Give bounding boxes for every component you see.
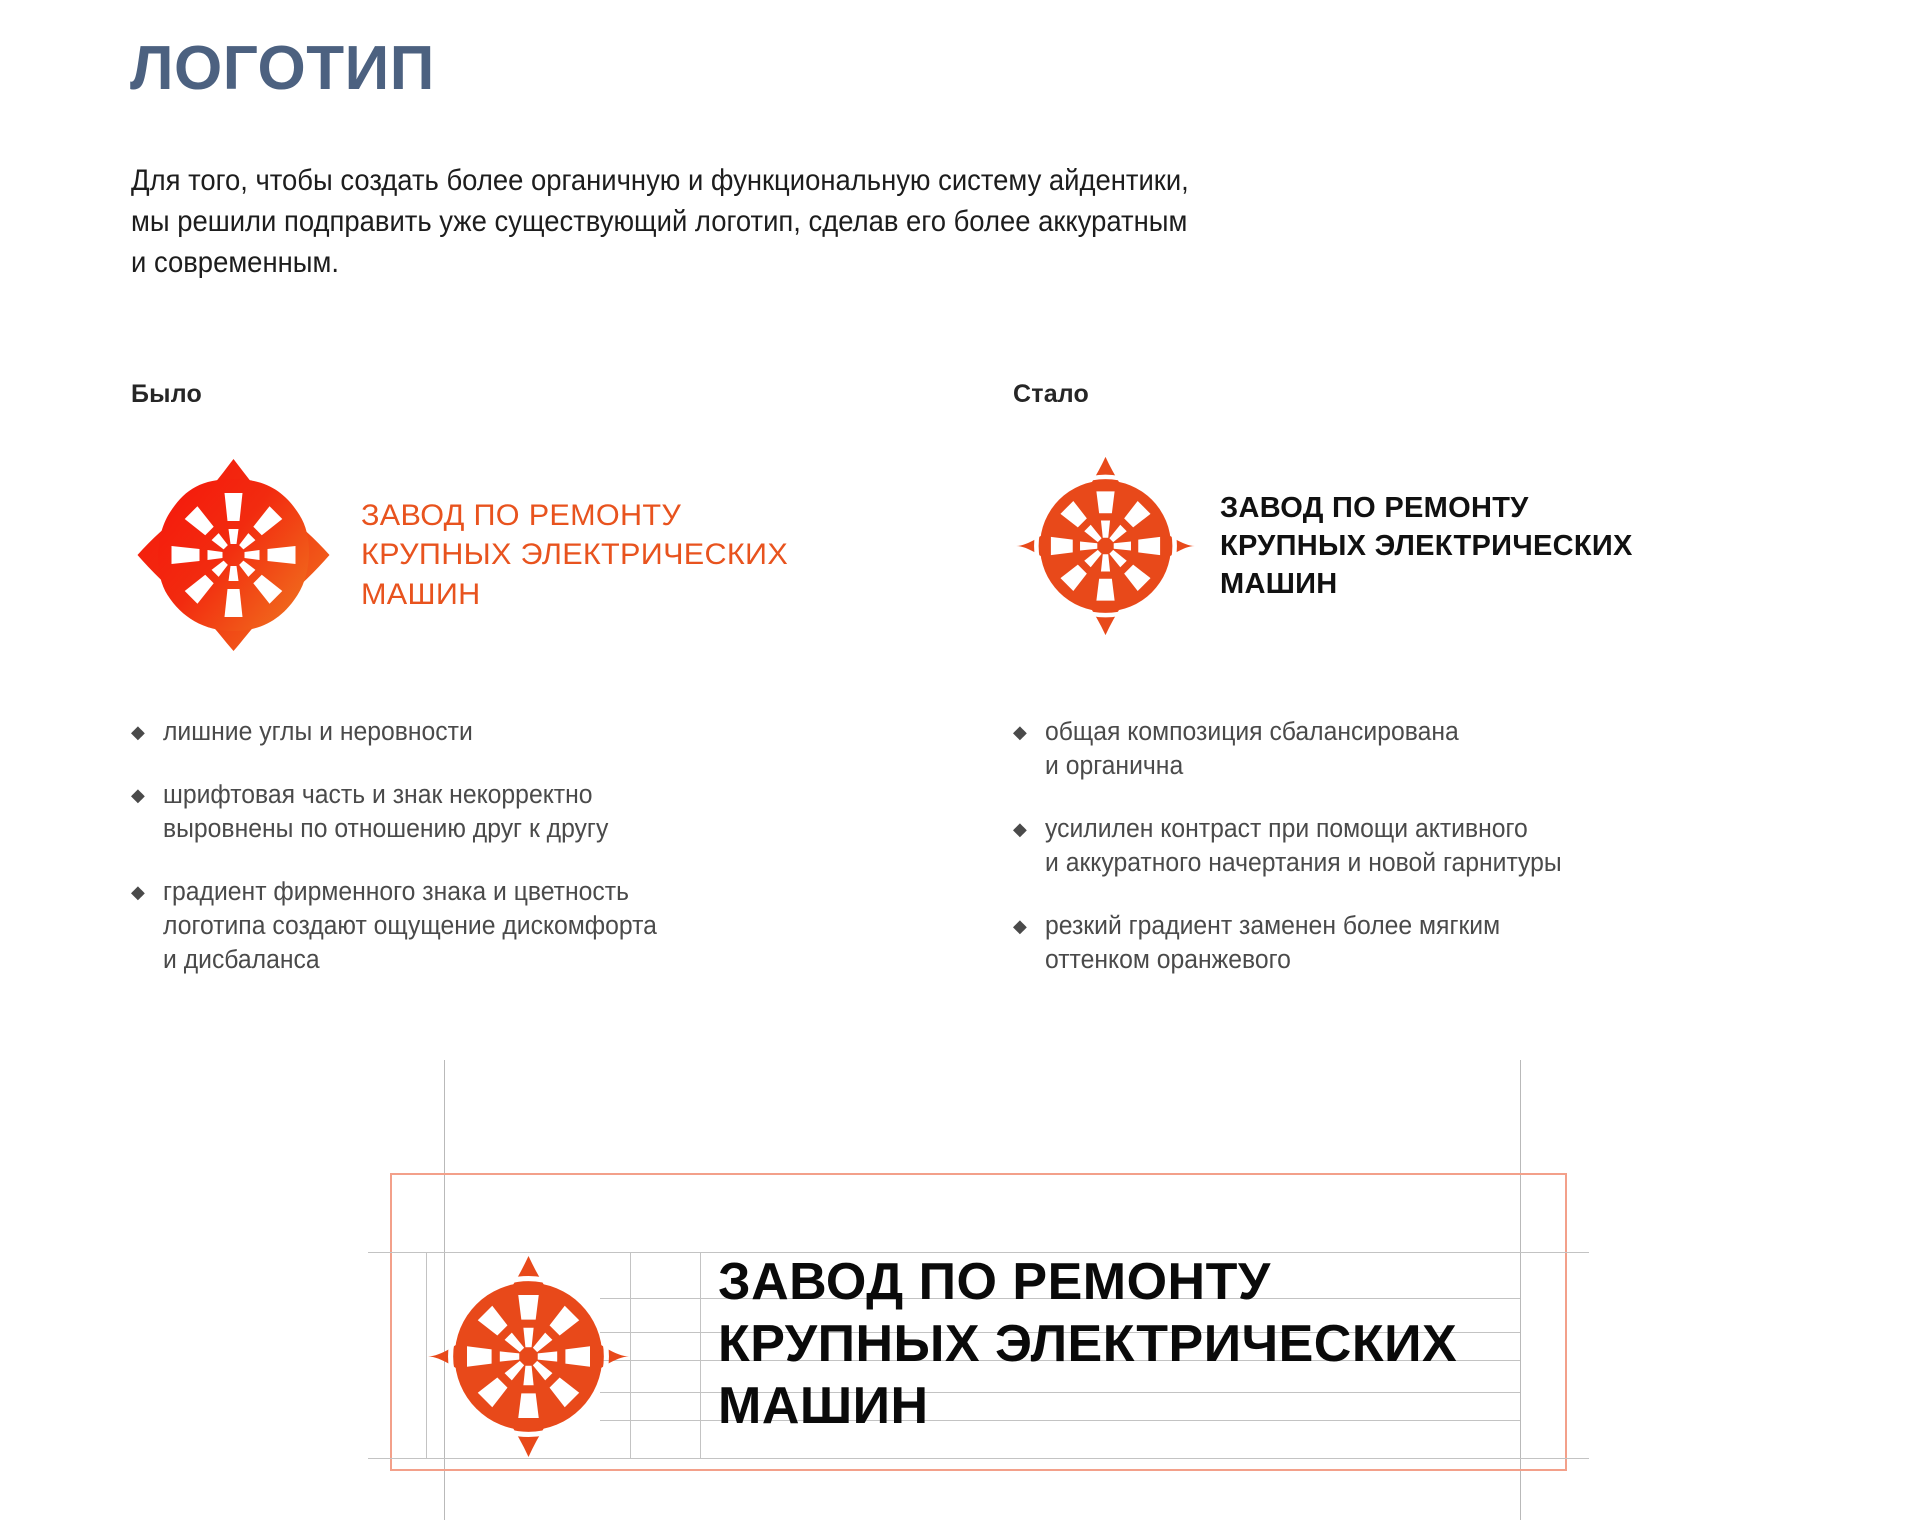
after-column: Стало [1013, 380, 1893, 409]
wordmark-line: КРУПНЫХ ЭЛЕКТРИЧЕСКИХ [718, 1314, 1457, 1376]
diamond-bullet-icon: ◆ [131, 778, 163, 812]
diamond-bullet-icon: ◆ [1013, 909, 1045, 943]
text-line: и аккуратного начертания и новой гарниту… [1045, 846, 1562, 880]
text-line: выровнены по отношению друг к другу [163, 812, 608, 846]
text-line: общая композиция сбалансирована [1045, 715, 1459, 749]
wordmark-line: ЗАВОД ПО РЕМОНТУ [718, 1252, 1457, 1314]
list-item: ◆ лишние углы и неровности [131, 715, 831, 749]
text-line: лишние углы и неровности [163, 715, 473, 749]
intro-line: мы решили подправить уже существующий ло… [131, 201, 1619, 242]
page-title: ЛОГОТИП [130, 38, 435, 100]
after-logo-mark-icon [1013, 455, 1198, 637]
after-heading: Стало [1013, 380, 1893, 409]
wordmark-line: КРУПНЫХ ЭЛЕКТРИЧЕСКИХ [1220, 527, 1633, 565]
list-item: ◆ градиент фирменного знака и цветность … [131, 875, 831, 977]
list-item-text: шрифтовая часть и знак некорректно выров… [163, 778, 608, 846]
before-heading: Было [131, 380, 991, 409]
logo-guidelines-page: ЛОГОТИП Для того, чтобы создать более ор… [0, 0, 1920, 1520]
after-bullet-list: ◆ общая композиция сбалансирована и орга… [1013, 715, 1753, 1006]
before-logo-mark-icon [131, 455, 336, 655]
list-item: ◆ шрифтовая часть и знак некорректно выр… [131, 778, 831, 846]
logo-construction-diagram: ЗАВОД ПО РЕМОНТУ КРУПНЫХ ЭЛЕКТРИЧЕСКИХ М… [0, 1060, 1920, 1520]
text-line: шрифтовая часть и знак некорректно [163, 778, 608, 812]
diamond-bullet-icon: ◆ [1013, 715, 1045, 749]
list-item: ◆ общая композиция сбалансирована и орга… [1013, 715, 1753, 783]
intro-line: Для того, чтобы создать более органичную… [131, 160, 1619, 201]
wordmark-line: МАШИН [1220, 565, 1633, 603]
after-logo-lockup: ЗАВОД ПО РЕМОНТУ КРУПНЫХ ЭЛЕКТРИЧЕСКИХ М… [1013, 455, 1633, 637]
diamond-bullet-icon: ◆ [131, 715, 163, 749]
intro-paragraph: Для того, чтобы создать более органичную… [131, 160, 1619, 283]
list-item-text: градиент фирменного знака и цветность ло… [163, 875, 657, 977]
text-line: градиент фирменного знака и цветность [163, 875, 657, 909]
wordmark-line: ЗАВОД ПО РЕМОНТУ [1220, 489, 1633, 527]
list-item: ◆ резкий градиент заменен более мягким о… [1013, 909, 1753, 977]
text-line: усилилен контраст при помощи активного [1045, 812, 1562, 846]
text-line: оттенком оранжевого [1045, 943, 1500, 977]
wordmark-line: ЗАВОД ПО РЕМОНТУ [361, 496, 788, 536]
diamond-bullet-icon: ◆ [1013, 812, 1045, 846]
list-item-text: лишние углы и неровности [163, 715, 473, 749]
text-line: и органична [1045, 749, 1459, 783]
text-line: и дисбаланса [163, 943, 657, 977]
list-item-text: общая композиция сбалансирована и органи… [1045, 715, 1459, 783]
after-logo-wordmark: ЗАВОД ПО РЕМОНТУ КРУПНЫХ ЭЛЕКТРИЧЕСКИХ М… [1220, 489, 1633, 604]
text-line: логотипа создают ощущение дискомфорта [163, 909, 657, 943]
list-item: ◆ усилилен контраст при помощи активного… [1013, 812, 1753, 880]
before-column: Было [131, 380, 991, 409]
diamond-bullet-icon: ◆ [131, 875, 163, 909]
list-item-text: усилилен контраст при помощи активного и… [1045, 812, 1562, 880]
wordmark-line: МАШИН [718, 1376, 1457, 1438]
before-logo-wordmark: ЗАВОД ПО РЕМОНТУ КРУПНЫХ ЭЛЕКТРИЧЕСКИХ М… [361, 496, 788, 615]
before-logo-lockup: ЗАВОД ПО РЕМОНТУ КРУПНЫХ ЭЛЕКТРИЧЕСКИХ М… [131, 455, 780, 655]
text-line: резкий градиент заменен более мягким [1045, 909, 1500, 943]
list-item-text: резкий градиент заменен более мягким отт… [1045, 909, 1500, 977]
wordmark-line: КРУПНЫХ ЭЛЕКТРИЧЕСКИХ [361, 535, 788, 575]
intro-line: и современным. [131, 242, 1619, 283]
before-bullet-list: ◆ лишние углы и неровности ◆ шрифтовая ч… [131, 715, 831, 1006]
construction-logo-wordmark: ЗАВОД ПО РЕМОНТУ КРУПНЫХ ЭЛЕКТРИЧЕСКИХ М… [718, 1252, 1457, 1438]
construction-logo-mark-icon [426, 1254, 631, 1459]
wordmark-line: МАШИН [361, 575, 788, 615]
